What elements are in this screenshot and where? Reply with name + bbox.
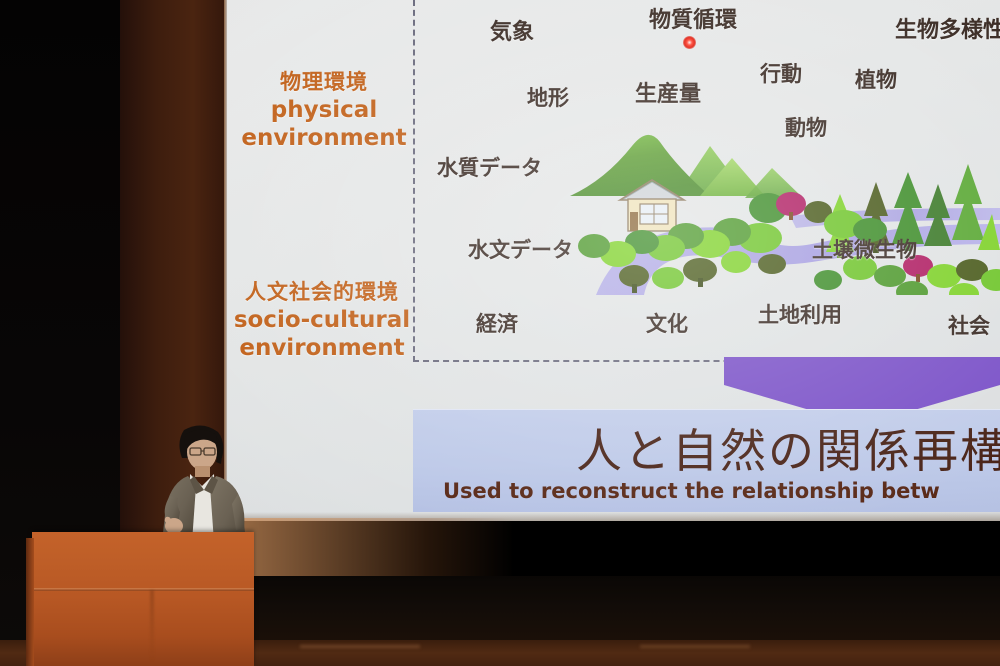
floor-reflection-left (300, 645, 420, 648)
lectern-panel-seam (32, 588, 254, 591)
presenter-speaker (146, 424, 262, 544)
lectern-left-side (26, 538, 34, 666)
lectern-podium (32, 532, 254, 666)
projection-screen: 人と自然の関係再構 Used to reconstruct the relati… (227, 0, 1000, 521)
screen-vignette (227, 0, 1000, 521)
stage-wall-highlight (224, 518, 514, 578)
floor-reflection-right (640, 645, 750, 648)
lectern-wood-grain (150, 590, 154, 662)
auditorium-photo: 人と自然の関係再構 Used to reconstruct the relati… (0, 0, 1000, 666)
lectern-top-edge (32, 532, 254, 538)
